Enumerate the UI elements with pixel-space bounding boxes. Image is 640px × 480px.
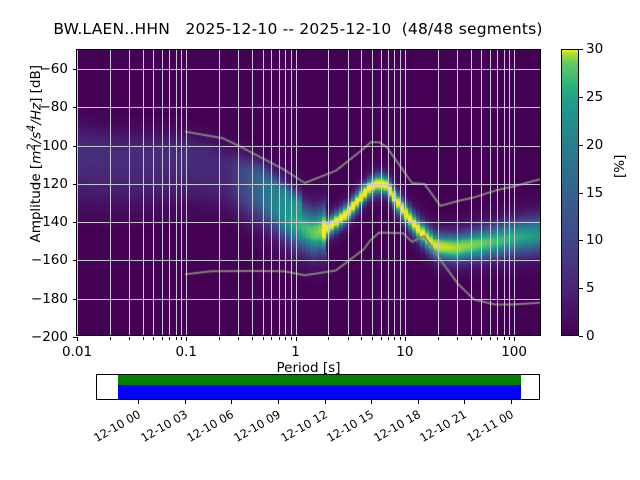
data-coverage-green (118, 375, 522, 385)
x-tick (471, 337, 472, 340)
x-tick (162, 337, 163, 340)
y-tick-label: −60 (40, 61, 69, 77)
x-tick (381, 337, 382, 340)
colorbar-tick-label: 5 (586, 280, 595, 296)
gridline-vertical (438, 50, 439, 335)
x-tick (457, 337, 458, 340)
x-tick (394, 337, 395, 340)
x-tick (497, 337, 498, 340)
gridline-vertical (162, 50, 163, 335)
gridline-horizontal (77, 260, 540, 261)
colorbar-tick (579, 240, 583, 241)
colorbar-tick-label: 25 (586, 89, 603, 105)
colorbar-tick-label: 10 (586, 232, 603, 248)
x-tick (238, 337, 239, 340)
x-tick (186, 337, 187, 341)
gridline-vertical (271, 50, 272, 335)
gridline-horizontal (77, 222, 540, 223)
gridline-vertical (497, 50, 498, 335)
x-tick (481, 337, 482, 340)
x-tick (296, 337, 297, 341)
gridline-vertical (457, 50, 458, 335)
y-tick (73, 299, 77, 300)
gridline-vertical (372, 50, 373, 335)
y-tick (73, 260, 77, 261)
gridline-vertical (176, 50, 177, 335)
x-tick-label: 10 (396, 344, 413, 360)
y-tick-label: −200 (31, 329, 68, 345)
y-tick-label: −80 (40, 99, 69, 115)
gridline-vertical (129, 50, 130, 335)
gridline-vertical (514, 50, 515, 335)
gridline-horizontal (77, 184, 540, 185)
colorbar-tick-label: 30 (586, 41, 603, 57)
x-tick (279, 337, 280, 340)
gridline-vertical (296, 50, 297, 335)
gridline-vertical (481, 50, 482, 335)
timeline-tick (511, 400, 512, 404)
x-tick (372, 337, 373, 340)
gridline-vertical (471, 50, 472, 335)
x-tick (405, 337, 406, 341)
x-tick (219, 337, 220, 340)
x-tick (514, 337, 515, 341)
gridline-vertical (328, 50, 329, 335)
gridline-vertical (181, 50, 182, 335)
x-tick (400, 337, 401, 340)
x-tick (169, 337, 170, 340)
x-tick (328, 337, 329, 340)
gridline-vertical (77, 50, 78, 335)
gridline-horizontal (77, 107, 540, 108)
data-coverage-blue (118, 385, 522, 399)
y-tick (73, 146, 77, 147)
colorbar-tick (579, 49, 583, 50)
timeline-tick (278, 400, 279, 404)
y-tick (73, 184, 77, 185)
colorbar-tick (579, 97, 583, 98)
colorbar-tick (579, 288, 583, 289)
x-tick-label: 0.1 (176, 344, 197, 360)
x-tick (348, 337, 349, 340)
gridline-vertical (219, 50, 220, 335)
timeline-tick (231, 400, 232, 404)
x-tick (271, 337, 272, 340)
gridline-vertical (400, 50, 401, 335)
colorbar-tick-label: 15 (586, 185, 603, 201)
gridline-horizontal (77, 69, 540, 70)
colorbar-tick (579, 336, 583, 337)
page-title: BW.LAEN..HHN 2025-12-10 -- 2025-12-10 (4… (0, 20, 596, 38)
gridline-vertical (110, 50, 111, 335)
x-tick (143, 337, 144, 340)
x-tick (291, 337, 292, 340)
gridline-vertical (509, 50, 510, 335)
gridline-vertical (186, 50, 187, 335)
x-tick (110, 337, 111, 340)
y-tick (73, 69, 77, 70)
timeline-tick (464, 400, 465, 404)
x-tick (504, 337, 505, 340)
gridline-vertical (504, 50, 505, 335)
gridline-vertical (238, 50, 239, 335)
timeline-tick (418, 400, 419, 404)
x-tick (77, 337, 78, 341)
gridline-horizontal (77, 299, 540, 300)
gridline-vertical (285, 50, 286, 335)
gridline-vertical (252, 50, 253, 335)
gridline-vertical (143, 50, 144, 335)
x-tick (509, 337, 510, 340)
timeline-tick (325, 400, 326, 404)
timeline-tick (371, 400, 372, 404)
x-tick (252, 337, 253, 340)
colorbar (561, 49, 579, 336)
gridline-vertical (388, 50, 389, 335)
timeline-coverage-strip[interactable] (96, 374, 540, 400)
y-tick (73, 107, 77, 108)
x-tick-label: 100 (501, 344, 527, 360)
y-tick (73, 222, 77, 223)
x-tick (176, 337, 177, 340)
y-axis-title: Amplitude [m2/s4/Hz] [dB] (24, 34, 44, 274)
gridline-vertical (490, 50, 491, 335)
gridline-horizontal (77, 146, 540, 147)
x-tick (263, 337, 264, 340)
colorbar-tick-label: 20 (586, 137, 603, 153)
colorbar-tick (579, 193, 583, 194)
x-tick (438, 337, 439, 340)
x-tick (181, 337, 182, 340)
x-tick-label: 0.01 (62, 344, 92, 360)
gridline-vertical (405, 50, 406, 335)
gridline-vertical (153, 50, 154, 335)
gridline-vertical (169, 50, 170, 335)
gridline-vertical (361, 50, 362, 335)
gridline-vertical (263, 50, 264, 335)
gridline-vertical (394, 50, 395, 335)
y-tick (73, 337, 77, 338)
ppsd-plot-axes[interactable]: −60−80−100−120−140−160−180−2000.010.1110… (76, 49, 541, 336)
colorbar-tick-label: 0 (586, 328, 595, 344)
x-tick (388, 337, 389, 340)
timeline-tick (185, 400, 186, 404)
gridline-vertical (348, 50, 349, 335)
gridline-vertical (291, 50, 292, 335)
colorbar-label: [%] (612, 155, 628, 178)
x-tick (361, 337, 362, 340)
x-tick (153, 337, 154, 340)
x-tick (490, 337, 491, 340)
colorbar-tick (579, 145, 583, 146)
gridline-vertical (279, 50, 280, 335)
x-tick-label: 1 (291, 344, 300, 360)
y-tick-label: −180 (31, 291, 68, 307)
timeline-tick (138, 400, 139, 404)
x-tick (285, 337, 286, 340)
x-tick (129, 337, 130, 340)
gridline-vertical (381, 50, 382, 335)
